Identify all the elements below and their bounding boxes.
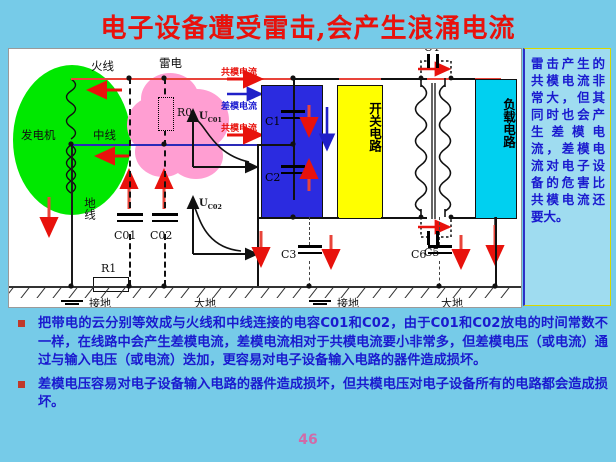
bullet-square-icon bbox=[18, 381, 25, 388]
bullet-item: 差模电压容易对电子设备输入电路的器件造成损坏，但共模电压对电子设备所有的电路都会… bbox=[8, 376, 608, 413]
bullet-text: 把带电的云分别等效成与火线和中线连接的电容C01和C02，由于C01和C02放电… bbox=[38, 316, 608, 368]
sidenote-box: 雷击产生的共模电流非常大，但其同时也会产生差模电流，差模电流对电子设备的危害比共… bbox=[523, 48, 611, 306]
page-title: 电子设备遭受雷击,会产生浪涌电流 bbox=[0, 8, 616, 45]
page-number: 46 bbox=[0, 432, 616, 448]
bullet-item: 把带电的云分别等效成与火线和中线连接的电容C01和C02，由于C01和C02放电… bbox=[8, 315, 608, 371]
circuit-diagram-panel: 火线 雷电 发电机 中线 地线 R0 bbox=[8, 48, 522, 308]
bullet-text: 差模电压容易对电子设备输入电路的器件造成损坏，但共模电压对电子设备所有的电路都会… bbox=[38, 377, 608, 411]
slide-root: 电子设备遭受雷击,会产生浪涌电流 火线 雷电 发电机 中 bbox=[0, 0, 616, 462]
bullet-list: 把带电的云分别等效成与火线和中线连接的电容C01和C02，由于C01和C02放电… bbox=[8, 315, 608, 418]
node-dots bbox=[9, 49, 521, 307]
bullet-square-icon bbox=[18, 320, 25, 327]
